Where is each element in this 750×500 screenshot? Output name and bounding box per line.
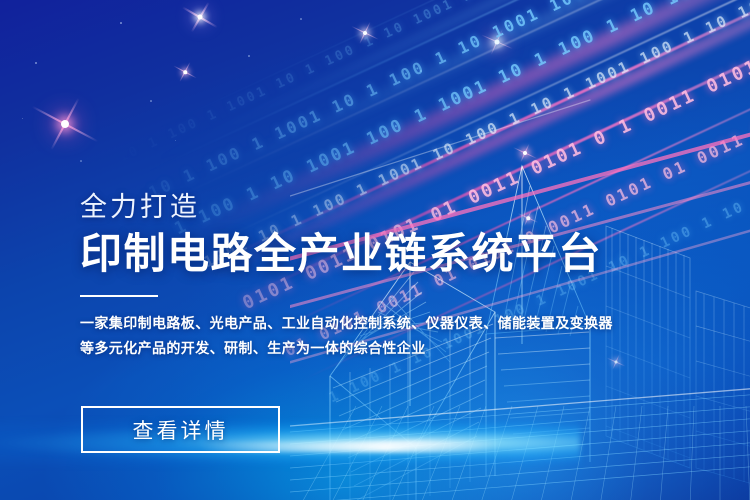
- hero-eyebrow: 全力打造: [80, 192, 640, 223]
- star-dot: [420, 70, 422, 72]
- view-details-label: 查看详情: [133, 415, 229, 445]
- hero-headline: 印制电路全产业链系统平台: [80, 229, 640, 279]
- hero-divider: [80, 295, 158, 297]
- star-dot: [150, 100, 152, 102]
- star-dot: [35, 62, 37, 64]
- star-dot: [175, 140, 176, 141]
- view-details-button[interactable]: 查看详情: [81, 406, 280, 453]
- hero-banner: 10 1 100 1 1001 10 1 100 1 10 1001 100 1…: [0, 0, 750, 500]
- star-dot: [22, 118, 23, 119]
- star-dot: [80, 160, 82, 162]
- hero-description-line-1: 一家集印制电路板、光电产品、工业自动化控制系统、仪器仪表、储能装置及变换器: [80, 311, 640, 337]
- hero-description: 一家集印制电路板、光电产品、工业自动化控制系统、仪器仪表、储能装置及变换器 等多…: [80, 311, 640, 363]
- star-dot: [120, 22, 122, 24]
- hero-description-line-2: 等多元化产品的开发、研制、生产为一体的综合性企业: [80, 336, 640, 362]
- star-dot: [300, 18, 302, 20]
- hero-copy: 全力打造 印制电路全产业链系统平台 一家集印制电路板、光电产品、工业自动化控制系…: [80, 192, 640, 362]
- star-dot: [248, 55, 250, 57]
